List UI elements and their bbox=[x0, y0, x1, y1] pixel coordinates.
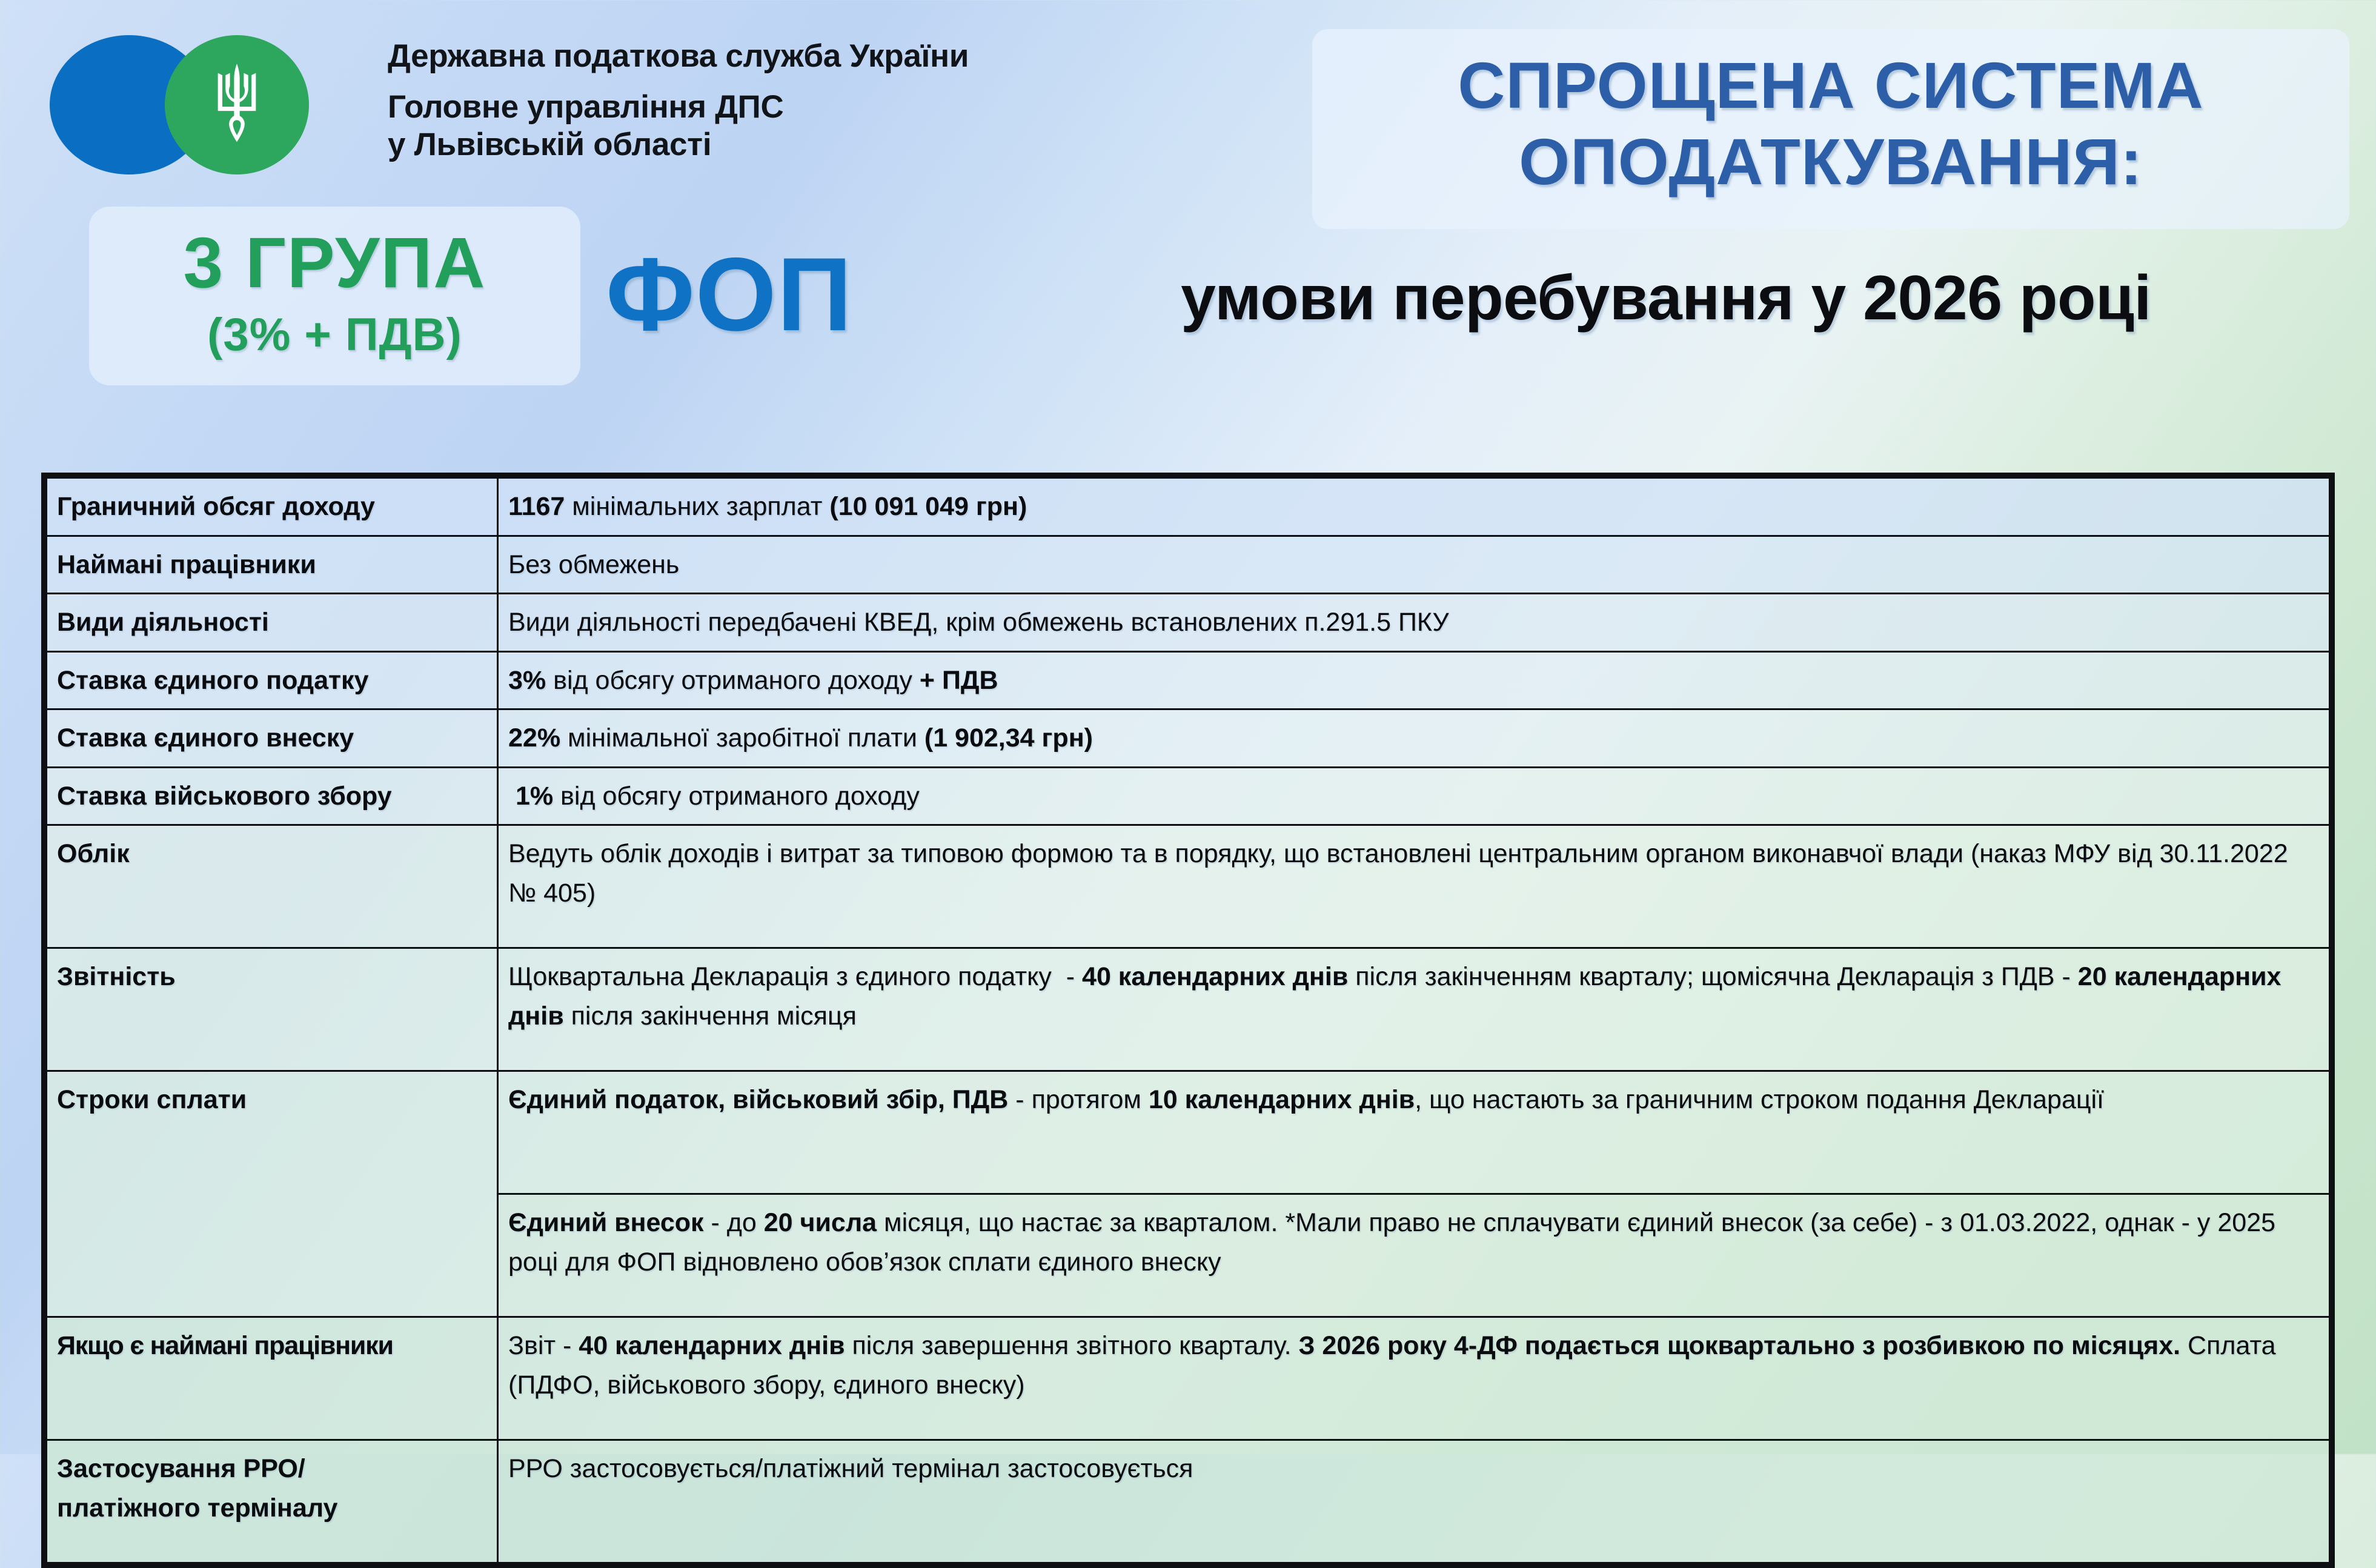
ukraine-trident-icon bbox=[204, 62, 270, 147]
logo-green-ellipse bbox=[165, 35, 309, 174]
table-row: Якщо є наймані працівники Звіт - 40 кале… bbox=[47, 1317, 2330, 1440]
row-value: 3% від обсягу отриманого доходу + ПДВ bbox=[498, 651, 2330, 709]
main-title-box: СПРОЩЕНА СИСТЕМА ОПОДАТКУВАННЯ: bbox=[1312, 29, 2349, 229]
row-value: Звіт - 40 календарних днів після заверше… bbox=[498, 1317, 2330, 1440]
row-label: Звітність bbox=[47, 948, 498, 1071]
org-line-1: Державна податкова служба України bbox=[388, 38, 969, 75]
table-row: Ставка єдиного внеску 22% мінімальної за… bbox=[47, 709, 2330, 768]
org-line-2: Головне управління ДПС bbox=[388, 88, 969, 126]
row-label: Наймані працівники bbox=[47, 536, 498, 594]
table-row: Види діяльності Види діяльності передбач… bbox=[47, 594, 2330, 652]
row-value: Без обмежень bbox=[498, 536, 2330, 594]
org-name: Державна податкова служба України Головн… bbox=[388, 38, 969, 164]
row-label: Ставка військового збору bbox=[47, 767, 498, 825]
table-row: Ставка військового збору 1% від обсягу о… bbox=[47, 767, 2330, 825]
dps-logo bbox=[50, 35, 389, 174]
org-line-3: у Львівській області bbox=[388, 126, 969, 164]
table-row: Наймані працівники Без обмежень bbox=[47, 536, 2330, 594]
conditions-table-wrapper: Граничний обсяг доходу 1167 мінімальних … bbox=[41, 473, 2335, 1568]
row-label: Якщо є наймані працівники bbox=[47, 1317, 498, 1440]
table-row: Граничний обсяг доходу 1167 мінімальних … bbox=[47, 478, 2330, 536]
main-subtitle: умови перебування у 2026 році bbox=[969, 267, 2363, 330]
row-label-line-2: платіжного терміналу bbox=[57, 1493, 337, 1523]
row-value: 1% від обсягу отриманого доходу bbox=[498, 767, 2330, 825]
row-label: Граничний обсяг доходу bbox=[47, 478, 498, 536]
row-label: Ставка єдиного внеску bbox=[47, 709, 498, 768]
table-row: Застосування РРО/ платіжного терміналу Р… bbox=[47, 1440, 2330, 1563]
table-row: Ставка єдиного податку 3% від обсягу отр… bbox=[47, 651, 2330, 709]
row-value: РРО застосовується/платіжний термінал за… bbox=[498, 1440, 2330, 1563]
row-value: Єдиний податок, військовий збір, ПДВ - п… bbox=[498, 1071, 2330, 1194]
main-title-line-2: ОПОДАТКУВАННЯ: bbox=[1312, 124, 2349, 200]
row-label-line-1: Застосування РРО/ bbox=[57, 1454, 305, 1483]
group-badge: 3 ГРУПА (3% + ПДВ) bbox=[89, 207, 580, 385]
row-value: Щоквартальна Декларація з єдиного податк… bbox=[498, 948, 2330, 1071]
group-badge-title: 3 ГРУПА bbox=[89, 207, 580, 299]
row-label: Види діяльності bbox=[47, 594, 498, 652]
main-title-line-1: СПРОЩЕНА СИСТЕМА bbox=[1312, 29, 2349, 124]
table-row: Облік Ведуть облік доходів і витрат за т… bbox=[47, 825, 2330, 948]
table-row: Строки сплати Єдиний податок, військовий… bbox=[47, 1071, 2330, 1194]
conditions-table-body: Граничний обсяг доходу 1167 мінімальних … bbox=[47, 478, 2330, 1563]
table-row: Звітність Щоквартальна Декларація з єдин… bbox=[47, 948, 2330, 1071]
row-value: Види діяльності передбачені КВЕД, крім о… bbox=[498, 594, 2330, 652]
fop-label: ФОП bbox=[606, 242, 852, 347]
header: Державна податкова служба України Головн… bbox=[0, 0, 2376, 424]
row-label: Строки сплати bbox=[47, 1071, 498, 1317]
row-value: 22% мінімальної заробітної плати (1 902,… bbox=[498, 709, 2330, 768]
row-value: Єдиний внесок - до 20 числа місяця, що н… bbox=[498, 1194, 2330, 1317]
row-label: Облік bbox=[47, 825, 498, 948]
conditions-table: Граничний обсяг доходу 1167 мінімальних … bbox=[45, 477, 2331, 1564]
group-badge-subtitle: (3% + ПДВ) bbox=[89, 299, 580, 358]
row-value: Ведуть облік доходів і витрат за типовою… bbox=[498, 825, 2330, 948]
row-value: 1167 мінімальних зарплат (10 091 049 грн… bbox=[498, 478, 2330, 536]
row-label: Ставка єдиного податку bbox=[47, 651, 498, 709]
row-label: Застосування РРО/ платіжного терміналу bbox=[47, 1440, 498, 1563]
